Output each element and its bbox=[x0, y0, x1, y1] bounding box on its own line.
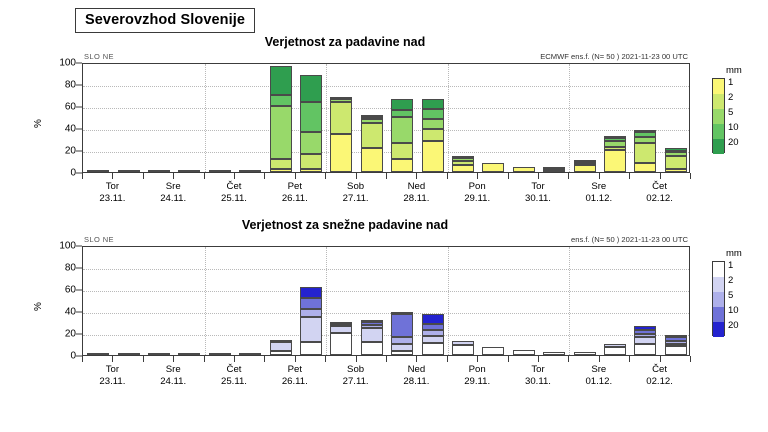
gridline-horizontal bbox=[83, 152, 689, 153]
bar-segment-zero bbox=[178, 170, 200, 172]
gridline-vertical bbox=[569, 64, 570, 172]
legend-tick-label: 20 bbox=[728, 138, 739, 148]
day-of-week: Pon bbox=[447, 364, 507, 376]
x-axis-day-label: Sob27.11. bbox=[326, 364, 386, 388]
legend-swatch bbox=[713, 124, 724, 139]
x-tick-mark bbox=[599, 356, 600, 362]
model-run-subtitle: ens.f. (N= 50 ) 2021-11-23 00 UTC bbox=[571, 235, 688, 244]
y-tick-label: 20 bbox=[34, 329, 76, 340]
bar-segment bbox=[574, 352, 596, 355]
bar-segment bbox=[300, 309, 322, 317]
day-of-week: Sre bbox=[569, 181, 629, 193]
bar-segment bbox=[330, 99, 352, 101]
x-tick-mark bbox=[538, 356, 539, 362]
x-axis-day-label: Ned28.11. bbox=[386, 181, 446, 205]
gridline-vertical bbox=[569, 247, 570, 355]
plot-area bbox=[82, 63, 690, 173]
gridline-vertical bbox=[205, 247, 206, 355]
bar-segment bbox=[543, 352, 565, 355]
bar-segment bbox=[391, 351, 413, 355]
x-axis-day-label: Sre24.11. bbox=[143, 364, 203, 388]
legend-swatch bbox=[713, 109, 724, 124]
bar-segment bbox=[391, 117, 413, 143]
bar-segment bbox=[391, 337, 413, 344]
bar-segment bbox=[422, 336, 444, 343]
x-tick-mark bbox=[416, 173, 417, 179]
day-date: 02.12. bbox=[630, 376, 690, 388]
day-of-week: Sre bbox=[569, 364, 629, 376]
day-date: 28.11. bbox=[386, 193, 446, 205]
bar-segment bbox=[422, 141, 444, 172]
x-tick-mark bbox=[264, 356, 265, 362]
x-tick-mark bbox=[538, 173, 539, 179]
gridline-vertical bbox=[205, 64, 206, 172]
bar-segment bbox=[543, 170, 565, 172]
x-axis-day-label: Pet26.11. bbox=[265, 181, 325, 205]
day-date: 28.11. bbox=[386, 376, 446, 388]
stacked-bar bbox=[513, 167, 535, 173]
bar-segment bbox=[330, 322, 352, 324]
stacked-bar bbox=[239, 354, 261, 355]
x-tick-mark bbox=[660, 356, 661, 362]
x-axis-day-label: Čet02.12. bbox=[630, 364, 690, 388]
stacked-bar bbox=[270, 66, 292, 172]
bar-segment bbox=[482, 347, 504, 355]
x-tick-mark bbox=[690, 173, 691, 179]
legend-tick-label: 2 bbox=[728, 276, 733, 286]
bar-segment bbox=[634, 132, 656, 136]
stacked-bar bbox=[665, 336, 687, 355]
x-tick-mark bbox=[629, 173, 630, 179]
stacked-bar bbox=[148, 354, 170, 355]
bar-segment-zero bbox=[239, 353, 261, 355]
x-axis-day-label: Sre01.12. bbox=[569, 181, 629, 205]
bar-segment bbox=[361, 322, 383, 325]
day-of-week: Ned bbox=[386, 364, 446, 376]
x-tick-mark bbox=[568, 173, 569, 179]
bar-segment bbox=[574, 163, 596, 165]
bar-segment bbox=[300, 317, 322, 342]
bar-segment bbox=[422, 119, 444, 129]
x-tick-mark bbox=[234, 356, 235, 362]
x-tick-mark bbox=[477, 356, 478, 362]
x-tick-mark bbox=[204, 356, 205, 362]
x-axis-day-label: Sre01.12. bbox=[569, 364, 629, 388]
legend-tick-label: 1 bbox=[728, 78, 733, 88]
day-of-week: Tor bbox=[508, 364, 568, 376]
day-date: 23.11. bbox=[82, 193, 142, 205]
bar-segment bbox=[270, 340, 292, 342]
y-tick-mark bbox=[76, 268, 82, 269]
stacked-bar bbox=[239, 171, 261, 172]
legend-swatch bbox=[713, 307, 724, 322]
x-axis-day-label: Pon29.11. bbox=[447, 364, 507, 388]
x-tick-mark bbox=[325, 173, 326, 179]
y-tick-mark bbox=[76, 334, 82, 335]
legend-tick-label: 10 bbox=[728, 123, 739, 133]
day-of-week: Čet bbox=[630, 181, 690, 193]
stacked-bar bbox=[634, 130, 656, 172]
day-date: 25.11. bbox=[204, 376, 264, 388]
bar-segment bbox=[422, 314, 444, 324]
bar-segment bbox=[300, 132, 322, 154]
x-tick-mark bbox=[356, 173, 357, 179]
bar-segment bbox=[452, 156, 474, 158]
day-of-week: Pon bbox=[447, 181, 507, 193]
day-of-week: Čet bbox=[204, 181, 264, 193]
day-date: 29.11. bbox=[447, 376, 507, 388]
gridline-horizontal bbox=[83, 108, 689, 109]
x-tick-mark bbox=[477, 173, 478, 179]
precipitation-probability-chart: Verjetnost za padavine nad SLO NE ECMWF … bbox=[0, 30, 768, 210]
x-axis-day-label: Tor23.11. bbox=[82, 364, 142, 388]
legend-swatch bbox=[713, 94, 724, 109]
stacked-bar bbox=[178, 354, 200, 355]
day-date: 29.11. bbox=[447, 193, 507, 205]
x-tick-mark bbox=[356, 356, 357, 362]
bar-segment bbox=[422, 109, 444, 119]
bar-segment bbox=[634, 143, 656, 163]
x-tick-mark bbox=[660, 173, 661, 179]
bar-segment bbox=[270, 106, 292, 159]
bar-segment bbox=[391, 312, 413, 314]
stacked-bar bbox=[604, 136, 626, 172]
bar-segment bbox=[330, 102, 352, 134]
x-tick-mark bbox=[386, 173, 387, 179]
x-axis-day-label: Čet25.11. bbox=[204, 181, 264, 205]
bar-segment bbox=[452, 345, 474, 355]
bar-segment bbox=[300, 287, 322, 298]
gridline-horizontal bbox=[83, 86, 689, 87]
bar-segment bbox=[634, 330, 656, 334]
stacked-bar bbox=[330, 98, 352, 172]
day-of-week: Ned bbox=[386, 181, 446, 193]
stacked-bar bbox=[148, 171, 170, 172]
stacked-bar bbox=[300, 75, 322, 172]
x-tick-mark bbox=[82, 173, 83, 179]
bar-segment bbox=[452, 161, 474, 165]
day-date: 26.11. bbox=[265, 376, 325, 388]
x-tick-mark bbox=[325, 356, 326, 362]
day-date: 23.11. bbox=[82, 376, 142, 388]
x-axis-day-label: Sob27.11. bbox=[326, 181, 386, 205]
y-tick-mark bbox=[76, 246, 82, 247]
gridline-vertical bbox=[448, 64, 449, 172]
bar-segment bbox=[604, 138, 626, 141]
day-of-week: Tor bbox=[82, 364, 142, 376]
day-of-week: Pet bbox=[265, 364, 325, 376]
y-tick-label: 0 bbox=[34, 168, 76, 179]
stacked-bar bbox=[574, 352, 596, 355]
stacked-bar bbox=[574, 161, 596, 172]
stacked-bar bbox=[330, 323, 352, 355]
bar-segment bbox=[361, 117, 383, 119]
legend-tick-label: 20 bbox=[728, 321, 739, 331]
bar-segment bbox=[482, 163, 504, 172]
y-tick-mark bbox=[76, 107, 82, 108]
day-date: 25.11. bbox=[204, 193, 264, 205]
bar-segment bbox=[665, 156, 687, 169]
stacked-bar bbox=[604, 344, 626, 355]
stacked-bar bbox=[452, 341, 474, 355]
legend-tick-label: 2 bbox=[728, 93, 733, 103]
chart-title: Verjetnost za snežne padavine nad bbox=[0, 218, 690, 232]
bar-segment bbox=[270, 169, 292, 172]
y-tick-label: 40 bbox=[34, 124, 76, 135]
bar-segment-zero bbox=[178, 353, 200, 355]
bar-segment bbox=[330, 324, 352, 326]
bar-segment-zero bbox=[87, 353, 109, 355]
day-date: 02.12. bbox=[630, 193, 690, 205]
x-tick-mark bbox=[82, 356, 83, 362]
day-of-week: Čet bbox=[630, 364, 690, 376]
bar-segment bbox=[391, 314, 413, 337]
bar-segment bbox=[604, 136, 626, 138]
bar-segment bbox=[574, 165, 596, 172]
bar-segment bbox=[452, 341, 474, 345]
y-tick-mark bbox=[76, 63, 82, 64]
x-tick-mark bbox=[143, 356, 144, 362]
bar-segment bbox=[665, 335, 687, 337]
legend-colorbar bbox=[712, 261, 725, 336]
legend-tick-label: 1 bbox=[728, 261, 733, 271]
stacked-bar bbox=[87, 354, 109, 355]
legend-tick-label: 5 bbox=[728, 108, 733, 118]
bar-segment bbox=[270, 95, 292, 106]
x-tick-mark bbox=[690, 356, 691, 362]
day-date: 27.11. bbox=[326, 193, 386, 205]
region-code-label: SLO NE bbox=[84, 52, 114, 61]
stacked-bar bbox=[482, 347, 504, 355]
chart-title: Verjetnost za padavine nad bbox=[0, 35, 690, 49]
x-tick-mark bbox=[295, 356, 296, 362]
bar-segment bbox=[665, 337, 687, 340]
bar-segment-zero bbox=[209, 170, 231, 172]
day-date: 30.11. bbox=[508, 376, 568, 388]
bar-segment bbox=[391, 344, 413, 351]
y-tick-label: 20 bbox=[34, 146, 76, 157]
x-axis-day-label: Tor30.11. bbox=[508, 181, 568, 205]
day-of-week: Sre bbox=[143, 181, 203, 193]
x-tick-mark bbox=[204, 173, 205, 179]
stacked-bar bbox=[543, 352, 565, 355]
stacked-bar bbox=[391, 99, 413, 172]
bar-segment bbox=[604, 150, 626, 172]
bar-segment bbox=[452, 165, 474, 172]
x-tick-mark bbox=[447, 356, 448, 362]
bar-segment bbox=[634, 344, 656, 355]
day-date: 27.11. bbox=[326, 376, 386, 388]
day-of-week: Sob bbox=[326, 364, 386, 376]
bar-segment bbox=[361, 119, 383, 122]
bar-segment bbox=[634, 163, 656, 172]
day-of-week: Tor bbox=[82, 181, 142, 193]
y-tick-label: 60 bbox=[34, 285, 76, 296]
bar-segment bbox=[270, 66, 292, 95]
bar-segment-zero bbox=[87, 170, 109, 172]
stacked-bar bbox=[361, 320, 383, 355]
day-date: 01.12. bbox=[569, 376, 629, 388]
y-tick-mark bbox=[76, 290, 82, 291]
stacked-bar bbox=[665, 148, 687, 172]
bar-segment bbox=[513, 167, 535, 173]
bar-segment bbox=[300, 169, 322, 172]
day-date: 24.11. bbox=[143, 376, 203, 388]
bar-segment bbox=[270, 159, 292, 169]
x-tick-mark bbox=[112, 173, 113, 179]
x-tick-mark bbox=[386, 356, 387, 362]
gridline-vertical bbox=[326, 247, 327, 355]
stacked-bar bbox=[543, 168, 565, 172]
bar-segment bbox=[300, 298, 322, 309]
gridline-horizontal bbox=[83, 291, 689, 292]
legend-swatch bbox=[713, 262, 724, 277]
bar-segment bbox=[422, 343, 444, 355]
y-tick-mark bbox=[76, 151, 82, 152]
bar-segment bbox=[665, 344, 687, 346]
y-tick-label: 80 bbox=[34, 80, 76, 91]
bar-segment bbox=[361, 342, 383, 355]
stacked-bar bbox=[178, 171, 200, 172]
bar-segment bbox=[634, 326, 656, 329]
bar-segment bbox=[422, 330, 444, 337]
legend-swatch bbox=[713, 79, 724, 94]
legend-swatch bbox=[713, 292, 724, 307]
gridline-horizontal bbox=[83, 313, 689, 314]
bar-segment bbox=[665, 341, 687, 344]
stacked-bar bbox=[209, 171, 231, 172]
bar-segment bbox=[361, 123, 383, 148]
bar-segment bbox=[300, 342, 322, 355]
plot-area bbox=[82, 246, 690, 356]
bar-segment bbox=[604, 347, 626, 355]
gridline-horizontal bbox=[83, 335, 689, 336]
legend-tick-label: 5 bbox=[728, 291, 733, 301]
bar-segment bbox=[452, 158, 474, 161]
bar-segment bbox=[634, 334, 656, 337]
legend-swatch bbox=[713, 277, 724, 292]
x-axis-day-label: Sre24.11. bbox=[143, 181, 203, 205]
bar-segment-zero bbox=[118, 353, 140, 355]
bar-segment bbox=[391, 159, 413, 172]
x-tick-mark bbox=[234, 173, 235, 179]
x-tick-mark bbox=[508, 173, 509, 179]
x-tick-mark bbox=[508, 356, 509, 362]
y-tick-label: 40 bbox=[34, 307, 76, 318]
bar-segment bbox=[665, 346, 687, 355]
day-of-week: Sob bbox=[326, 181, 386, 193]
x-tick-mark bbox=[295, 173, 296, 179]
bar-segment bbox=[330, 326, 352, 333]
bar-segment bbox=[574, 160, 596, 162]
bar-segment bbox=[300, 154, 322, 168]
bar-segment bbox=[604, 344, 626, 347]
bar-segment-zero bbox=[239, 170, 261, 172]
x-tick-mark bbox=[416, 356, 417, 362]
day-of-week: Čet bbox=[204, 364, 264, 376]
x-tick-mark bbox=[143, 173, 144, 179]
y-tick-label: 100 bbox=[34, 241, 76, 252]
stacked-bar bbox=[452, 156, 474, 173]
bar-segment bbox=[391, 99, 413, 110]
bar-segment bbox=[422, 129, 444, 141]
stacked-bar bbox=[118, 354, 140, 355]
gridline-vertical bbox=[448, 247, 449, 355]
bar-segment bbox=[513, 350, 535, 356]
bar-segment bbox=[665, 148, 687, 151]
day-date: 01.12. bbox=[569, 193, 629, 205]
bar-segment bbox=[634, 337, 656, 344]
x-tick-mark bbox=[173, 356, 174, 362]
y-tick-mark bbox=[76, 312, 82, 313]
bar-segment-zero bbox=[148, 170, 170, 172]
y-tick-mark bbox=[76, 129, 82, 130]
x-tick-mark bbox=[173, 173, 174, 179]
bar-segment-zero bbox=[118, 170, 140, 172]
bar-segment bbox=[391, 110, 413, 117]
bar-segment bbox=[330, 97, 352, 99]
stacked-bar bbox=[482, 163, 504, 172]
model-run-subtitle: ECMWF ens.f. (N= 50 ) 2021-11-23 00 UTC bbox=[540, 52, 688, 61]
stacked-bar bbox=[513, 350, 535, 356]
snow-probability-chart: Verjetnost za snežne padavine nad SLO NE… bbox=[0, 213, 768, 393]
bar-segment bbox=[422, 99, 444, 109]
bar-segment bbox=[361, 325, 383, 327]
x-tick-mark bbox=[112, 356, 113, 362]
bar-segment bbox=[330, 134, 352, 173]
stacked-bar bbox=[87, 171, 109, 172]
bar-segment-zero bbox=[209, 353, 231, 355]
x-axis-day-label: Ned28.11. bbox=[386, 364, 446, 388]
bar-segment bbox=[665, 152, 687, 155]
y-tick-label: 80 bbox=[34, 263, 76, 274]
bar-segment-zero bbox=[148, 353, 170, 355]
region-code-label: SLO NE bbox=[84, 235, 114, 244]
bar-segment bbox=[361, 148, 383, 172]
y-tick-label: 0 bbox=[34, 351, 76, 362]
x-axis-day-label: Čet25.11. bbox=[204, 364, 264, 388]
bar-segment bbox=[604, 147, 626, 150]
legend-title: mm bbox=[726, 65, 742, 76]
y-tick-label: 100 bbox=[34, 58, 76, 69]
bar-segment bbox=[300, 102, 322, 133]
x-tick-mark bbox=[629, 356, 630, 362]
stacked-bar bbox=[209, 354, 231, 355]
bar-segment bbox=[270, 351, 292, 355]
bar-segment bbox=[634, 130, 656, 132]
legend-swatch bbox=[713, 139, 724, 154]
day-date: 26.11. bbox=[265, 193, 325, 205]
bar-segment bbox=[543, 167, 565, 169]
legend-swatch bbox=[713, 322, 724, 337]
bar-segment bbox=[361, 115, 383, 117]
gridline-vertical bbox=[326, 64, 327, 172]
x-axis-day-label: Tor30.11. bbox=[508, 364, 568, 388]
x-axis-day-label: Čet02.12. bbox=[630, 181, 690, 205]
x-axis-day-label: Pon29.11. bbox=[447, 181, 507, 205]
stacked-bar bbox=[118, 171, 140, 172]
x-tick-mark bbox=[264, 173, 265, 179]
bar-segment bbox=[634, 137, 656, 144]
x-tick-mark bbox=[568, 356, 569, 362]
y-tick-label: 60 bbox=[34, 102, 76, 113]
bar-segment bbox=[300, 75, 322, 101]
legend-tick-label: 10 bbox=[728, 306, 739, 316]
stacked-bar bbox=[422, 314, 444, 355]
legend-title: mm bbox=[726, 248, 742, 259]
stacked-bar bbox=[634, 326, 656, 355]
x-axis-day-label: Tor23.11. bbox=[82, 181, 142, 205]
